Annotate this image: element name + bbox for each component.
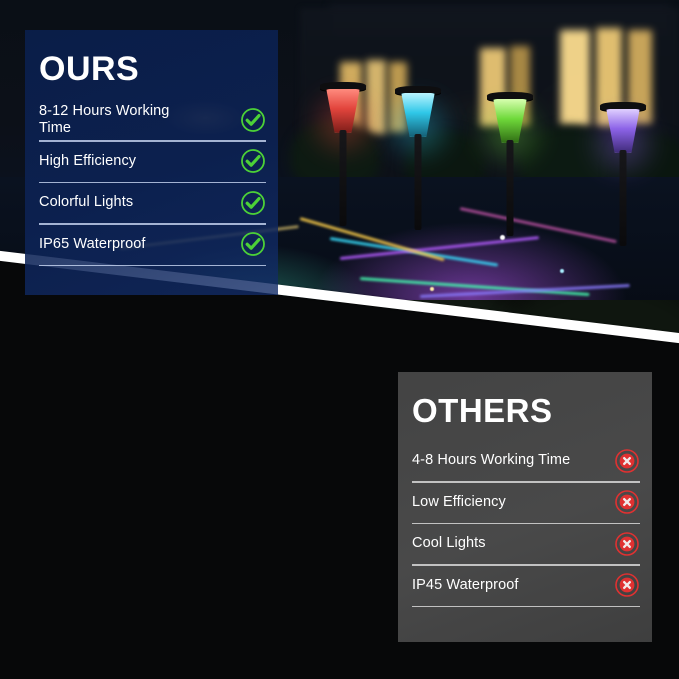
- light-speck: [500, 235, 505, 240]
- feature-label: IP45 Waterproof: [412, 577, 525, 594]
- feature-row: IP45 Waterproof: [412, 566, 640, 606]
- feature-row: High Efficiency: [39, 142, 266, 182]
- feature-row: Cool Lights: [412, 524, 640, 564]
- product-comparison-image: OURS 8-12 Hours Working Time High Effici…: [0, 0, 679, 679]
- feature-row: 4-8 Hours Working Time: [412, 441, 640, 481]
- check-circle-icon: [240, 148, 266, 174]
- lamp-pole: [620, 150, 627, 246]
- x-circle-icon: [614, 489, 640, 515]
- others-panel: OTHERS 4-8 Hours Working Time Low Effici…: [398, 372, 652, 642]
- feature-label: High Efficiency: [39, 153, 142, 170]
- lamp-pole: [415, 134, 422, 230]
- feature-label: 4-8 Hours Working Time: [412, 452, 576, 469]
- lamp-pole: [340, 130, 347, 226]
- check-circle-icon: [240, 190, 266, 216]
- x-circle-icon: [614, 572, 640, 598]
- others-feature-list: 4-8 Hours Working Time Low Efficiency Co…: [398, 441, 652, 607]
- feature-label: Low Efficiency: [412, 494, 512, 511]
- feature-row: 8-12 Hours Working Time: [39, 100, 266, 140]
- lamp-pole: [507, 140, 514, 236]
- check-circle-icon: [240, 107, 266, 133]
- ours-panel: OURS 8-12 Hours Working Time High Effici…: [25, 30, 278, 295]
- light-speck: [560, 269, 564, 273]
- feature-label: Colorful Lights: [39, 194, 139, 211]
- x-circle-icon: [614, 531, 640, 557]
- feature-row: Colorful Lights: [39, 183, 266, 223]
- window-glow: [560, 30, 590, 126]
- feature-divider: [39, 265, 266, 267]
- feature-row: IP65 Waterproof: [39, 225, 266, 265]
- others-title: OTHERS: [398, 372, 652, 427]
- ours-title: OURS: [25, 30, 278, 86]
- ours-feature-list: 8-12 Hours Working Time High Efficiency …: [25, 100, 278, 266]
- feature-row: Low Efficiency: [412, 483, 640, 523]
- check-circle-icon: [240, 231, 266, 257]
- x-circle-icon: [614, 448, 640, 474]
- feature-divider: [412, 606, 640, 608]
- feature-label: Cool Lights: [412, 535, 492, 552]
- light-speck: [430, 287, 434, 291]
- feature-label: 8-12 Hours Working Time: [39, 103, 209, 136]
- feature-label: IP65 Waterproof: [39, 236, 152, 253]
